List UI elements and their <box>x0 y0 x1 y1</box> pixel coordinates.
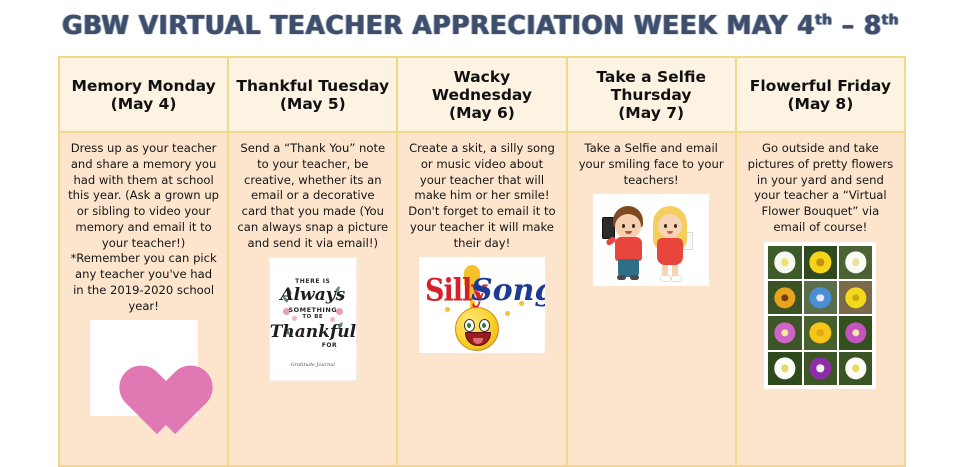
flower-photo-cell <box>768 246 801 279</box>
image-wrap-thursday <box>576 194 727 286</box>
header-label-thursday: Take a Selfie Thursday (May 7) <box>572 68 731 123</box>
page-title-sup-2: th <box>881 12 898 28</box>
flower-photo-cell <box>768 352 801 385</box>
heart-caption: A SpecialMemory <box>90 346 198 368</box>
poster-line-4: TO BE <box>270 314 356 320</box>
flower-photo-cell <box>839 246 872 279</box>
body-cell-wednesday: Create a skit, a silly song or music vid… <box>397 132 566 466</box>
image-wrap-monday: A SpecialMemory <box>68 320 219 416</box>
body-text-wednesday: Create a skit, a silly song or music vid… <box>406 141 557 251</box>
poster-line-6: FOR <box>322 342 337 349</box>
header-label-friday: Flowerful Friday (May 8) <box>741 77 900 114</box>
appreciation-week-table: Memory Monday (May 4) Thankful Tuesday (… <box>58 56 906 467</box>
table-header-row-group: Memory Monday (May 4) Thankful Tuesday (… <box>59 57 905 132</box>
header-label-wednesday: Wacky Wednesday (May 6) <box>402 68 561 123</box>
heart-caption-line2: Memory <box>121 356 166 369</box>
header-cell-monday: Memory Monday (May 4) <box>59 57 228 132</box>
image-wrap-friday <box>745 242 896 389</box>
poster-page: GBW VIRTUAL TEACHER APPRECIATION WEEK MA… <box>0 0 960 446</box>
page-title-main: GBW VIRTUAL TEACHER APPRECIATION WEEK MA… <box>61 11 814 41</box>
boy-shoe-icon <box>630 275 639 280</box>
table-body-row: Dress up as your teacher and share a mem… <box>59 132 905 466</box>
boy-figure-icon <box>609 206 649 282</box>
flower-photo-cell <box>804 281 837 314</box>
body-text-friday: Go outside and take pictures of pretty f… <box>745 141 896 236</box>
thankful-poster-image: THERE IS Always SOMETHING TO BE Thankful… <box>269 257 357 381</box>
flower-photo-cell <box>804 352 837 385</box>
header-label-tuesday: Thankful Tuesday (May 5) <box>233 77 392 114</box>
poster-line-2: Always <box>270 285 356 305</box>
special-memory-heart-image: A SpecialMemory <box>90 320 198 416</box>
page-title-dash: – 8 <box>832 11 881 41</box>
girl-shoe-icon <box>660 275 671 282</box>
flower-photo-cell <box>839 316 872 349</box>
smiley-face-icon <box>455 307 499 351</box>
page-title-sup-1: th <box>815 12 832 28</box>
body-text-thursday: Take a Selfie and email your smiling fac… <box>576 141 727 188</box>
flower-photo-cell <box>768 281 801 314</box>
girl-dress-icon <box>657 238 683 265</box>
poster-line-1: THERE IS <box>270 278 356 285</box>
header-label-monday: Memory Monday (May 4) <box>64 77 223 114</box>
poster-line-3: SOMETHING <box>270 306 356 314</box>
flower-photo-cell <box>804 316 837 349</box>
flower-photo-cell <box>839 352 872 385</box>
header-cell-friday: Flowerful Friday (May 8) <box>736 57 905 132</box>
body-text-tuesday: Send a “Thank You” note to your teacher,… <box>237 141 388 251</box>
image-wrap-wednesday: Silly Songs <box>406 257 557 353</box>
header-cell-wednesday: Wacky Wednesday (May 6) <box>397 57 566 132</box>
boy-shoe-icon <box>617 275 626 280</box>
smiley-tongue-icon <box>473 338 483 344</box>
body-cell-monday: Dress up as your teacher and share a mem… <box>59 132 228 466</box>
girl-figure-icon <box>651 206 693 282</box>
music-note-icon <box>505 311 510 316</box>
songs-word-text: Songs <box>471 273 545 308</box>
poster-credit: Gratitude Journal <box>270 362 356 368</box>
page-title: GBW VIRTUAL TEACHER APPRECIATION WEEK MA… <box>0 6 960 46</box>
girl-shoe-icon <box>671 275 682 282</box>
table-header-row: Memory Monday (May 4) Thankful Tuesday (… <box>59 57 905 132</box>
body-cell-thursday: Take a Selfie and email your smiling fac… <box>567 132 736 466</box>
kids-taking-selfie-image <box>593 194 709 286</box>
flower-photo-cell <box>839 281 872 314</box>
header-cell-thursday: Take a Selfie Thursday (May 7) <box>567 57 736 132</box>
flower-photo-cell <box>768 316 801 349</box>
smiley-eye-left-icon <box>464 319 475 332</box>
table-body-row-group: Dress up as your teacher and share a mem… <box>59 132 905 466</box>
body-cell-friday: Go outside and take pictures of pretty f… <box>736 132 905 466</box>
boy-head-icon <box>615 214 641 239</box>
flower-photo-cell <box>804 246 837 279</box>
poster-line-5: Thankful <box>270 322 356 342</box>
header-cell-tuesday: Thankful Tuesday (May 5) <box>228 57 397 132</box>
boy-shirt-icon <box>615 237 642 261</box>
body-text-monday: Dress up as your teacher and share a mem… <box>68 141 219 314</box>
smiley-mouth-icon <box>465 332 491 346</box>
smiley-pupil-icon <box>467 323 471 328</box>
smiley-eye-right-icon <box>479 319 490 332</box>
silly-songs-logo-image: Silly Songs <box>419 257 545 353</box>
smiley-pupil-icon <box>482 323 486 328</box>
image-wrap-tuesday: THERE IS Always SOMETHING TO BE Thankful… <box>237 257 388 381</box>
body-cell-tuesday: Send a “Thank You” note to your teacher,… <box>228 132 397 466</box>
page-title-text: GBW VIRTUAL TEACHER APPRECIATION WEEK MA… <box>61 11 898 41</box>
flower-photo-grid-image <box>764 242 876 389</box>
